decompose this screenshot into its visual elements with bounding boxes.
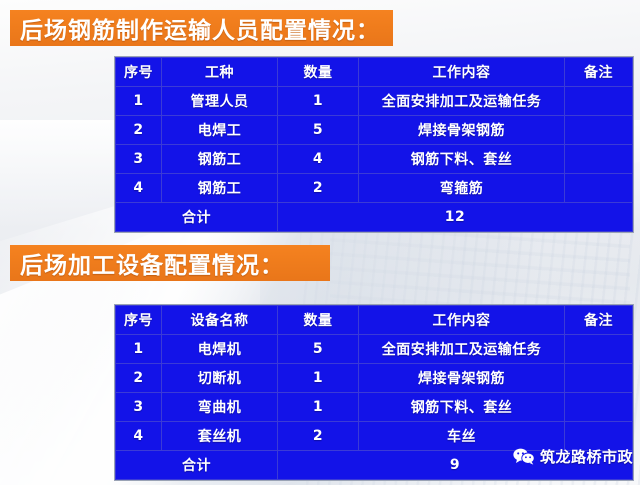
total-label: 合计	[116, 203, 278, 232]
table-row: 2 切断机 1 焊接骨架钢筋	[116, 364, 633, 393]
total-value: 9	[278, 451, 633, 480]
cell-name: 钢筋工	[162, 174, 278, 203]
cell-note	[565, 364, 633, 393]
cell-no: 4	[116, 422, 162, 451]
table-row: 4 钢筋工 2 弯箍筋	[116, 174, 633, 203]
cell-no: 3	[116, 393, 162, 422]
cell-no: 4	[116, 174, 162, 203]
cell-name: 弯曲机	[162, 393, 278, 422]
cell-qty: 1	[278, 87, 359, 116]
cell-name: 电焊工	[162, 116, 278, 145]
cell-no: 1	[116, 87, 162, 116]
cell-qty: 5	[278, 335, 359, 364]
cell-note	[565, 335, 633, 364]
cell-name: 套丝机	[162, 422, 278, 451]
column-header-content: 工作内容	[359, 58, 565, 87]
cell-qty: 1	[278, 393, 359, 422]
cell-qty: 1	[278, 364, 359, 393]
cell-name: 电焊机	[162, 335, 278, 364]
column-header-no: 序号	[116, 58, 162, 87]
section-title-banner-equipment: 后场加工设备配置情况：	[10, 245, 330, 281]
cell-work: 弯箍筋	[359, 174, 565, 203]
cell-work: 钢筋下料、套丝	[359, 393, 565, 422]
cell-qty: 2	[278, 174, 359, 203]
cell-work: 焊接骨架钢筋	[359, 116, 565, 145]
column-header-worktype: 工种	[162, 58, 278, 87]
total-value: 12	[278, 203, 633, 232]
section-title-text-equipment: 后场加工设备配置情况：	[20, 246, 284, 280]
cell-no: 1	[116, 335, 162, 364]
column-header-no: 序号	[116, 306, 162, 335]
table-row: 3 钢筋工 4 钢筋下料、套丝	[116, 145, 633, 174]
table-row: 2 电焊工 5 焊接骨架钢筋	[116, 116, 633, 145]
total-label: 合计	[116, 451, 278, 480]
cell-note	[565, 422, 633, 451]
table-row: 3 弯曲机 1 钢筋下料、套丝	[116, 393, 633, 422]
table-total-row: 合计 12	[116, 203, 633, 232]
table-row: 1 电焊机 5 全面安排加工及运输任务	[116, 335, 633, 364]
column-header-quantity: 数量	[278, 306, 359, 335]
cell-qty: 4	[278, 145, 359, 174]
cell-note	[565, 87, 633, 116]
equipment-configuration-table: 序号 设备名称 数量 工作内容 备注 1 电焊机 5 全面安排加工及运输任务 2…	[115, 305, 633, 480]
column-header-equipment: 设备名称	[162, 306, 278, 335]
cell-note	[565, 145, 633, 174]
cell-work: 全面安排加工及运输任务	[359, 335, 565, 364]
table-row: 4 套丝机 2 车丝	[116, 422, 633, 451]
cell-note	[565, 116, 633, 145]
table-total-row: 合计 9	[116, 451, 633, 480]
cell-qty: 2	[278, 422, 359, 451]
cell-no: 3	[116, 145, 162, 174]
cell-no: 2	[116, 364, 162, 393]
cell-note	[565, 393, 633, 422]
cell-name: 钢筋工	[162, 145, 278, 174]
cell-no: 2	[116, 116, 162, 145]
cell-work: 全面安排加工及运输任务	[359, 87, 565, 116]
column-header-remark: 备注	[565, 58, 633, 87]
section-title-text-personnel: 后场钢筋制作运输人员配置情况：	[20, 11, 380, 45]
column-header-quantity: 数量	[278, 58, 359, 87]
cell-name: 管理人员	[162, 87, 278, 116]
personnel-configuration-table: 序号 工种 数量 工作内容 备注 1 管理人员 1 全面安排加工及运输任务 2 …	[115, 57, 633, 232]
cell-qty: 5	[278, 116, 359, 145]
slide-canvas: 后场钢筋制作运输人员配置情况： 序号 工种 数量 工作内容 备注 1 管理人员 …	[0, 0, 640, 485]
column-header-remark: 备注	[565, 306, 633, 335]
cell-work: 焊接骨架钢筋	[359, 364, 565, 393]
table-header-row: 序号 工种 数量 工作内容 备注	[116, 58, 633, 87]
cell-name: 切断机	[162, 364, 278, 393]
cell-note	[565, 174, 633, 203]
cell-work: 车丝	[359, 422, 565, 451]
cell-work: 钢筋下料、套丝	[359, 145, 565, 174]
table-header-row: 序号 设备名称 数量 工作内容 备注	[116, 306, 633, 335]
column-header-content: 工作内容	[359, 306, 565, 335]
section-title-banner-personnel: 后场钢筋制作运输人员配置情况：	[10, 10, 393, 46]
table-row: 1 管理人员 1 全面安排加工及运输任务	[116, 87, 633, 116]
